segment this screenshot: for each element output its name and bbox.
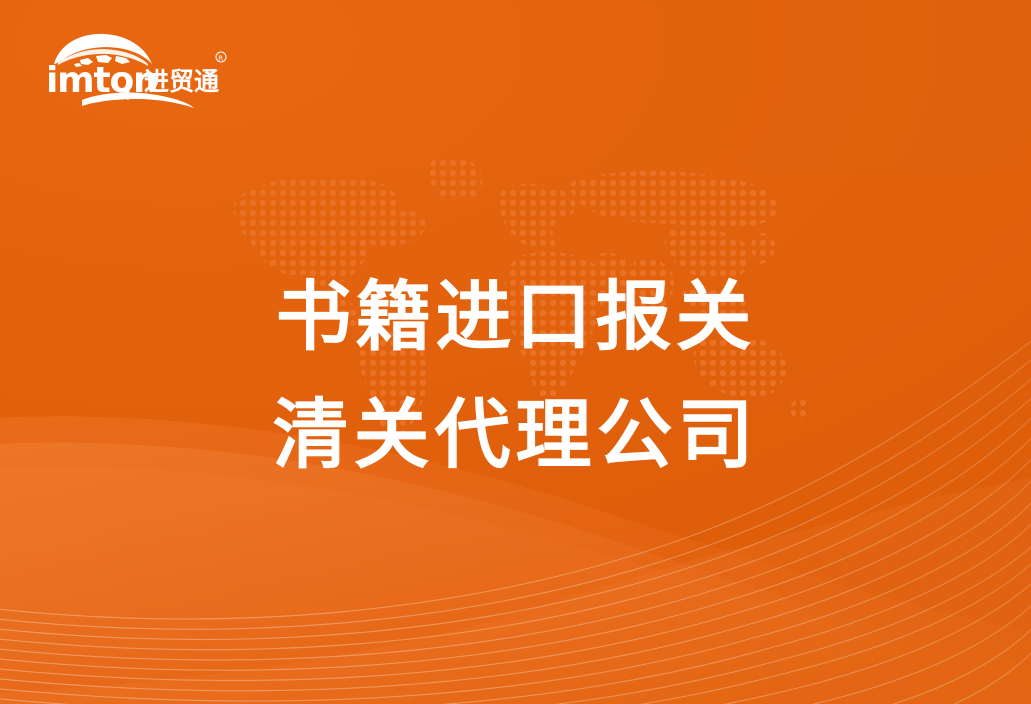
registered-trademark-icon: R [216, 52, 226, 62]
logo-chinese-name: 进贸通 [144, 67, 219, 96]
svg-text:进贸通: 进贸通 [144, 67, 219, 96]
dotted-world-map [218, 138, 818, 448]
company-logo[interactable]: imton 进贸通 R [38, 30, 228, 108]
promo-banner: imton 进贸通 R 书籍进口报关 清关代理公司 [0, 0, 1031, 704]
svg-text:R: R [218, 54, 223, 62]
